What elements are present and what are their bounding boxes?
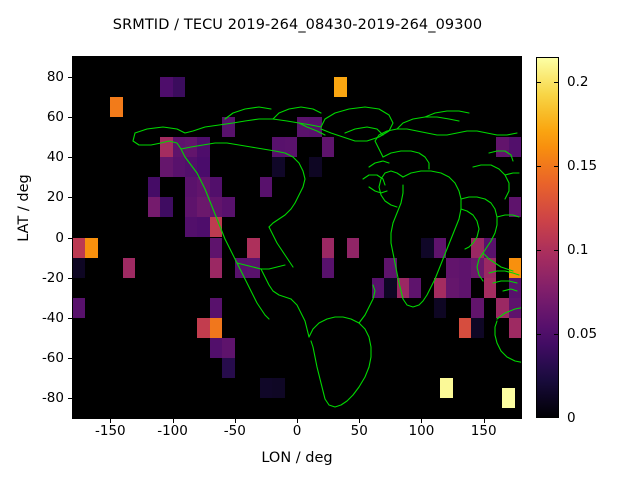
colorbar-tick-mark (554, 166, 559, 167)
y-tick-label: -40 (0, 310, 64, 326)
y-tick-mark (68, 238, 73, 239)
y-tick-label: 0 (0, 230, 64, 246)
x-tick-label: 50 (329, 423, 389, 439)
x-axis-label: LON / deg (73, 450, 521, 466)
y-tick-mark (68, 117, 73, 118)
x-tick-mark (421, 418, 422, 423)
colorbar-tick-mark (536, 82, 541, 83)
colorbar-tick-label: 0.2 (567, 74, 615, 90)
y-tick-label: 80 (0, 69, 64, 85)
y-tick-mark (68, 157, 73, 158)
y-tick-label: -20 (0, 270, 64, 286)
x-tick-mark (484, 418, 485, 423)
x-tick-mark (235, 418, 236, 423)
x-tick-label: -150 (80, 423, 140, 439)
colorbar-tick-mark (554, 250, 559, 251)
x-tick-label: 0 (267, 423, 327, 439)
map-plot-area (73, 57, 521, 418)
y-tick-mark (68, 318, 73, 319)
x-tick-label: -50 (205, 423, 265, 439)
x-tick-mark (110, 418, 111, 423)
y-tick-label: 40 (0, 149, 64, 165)
x-tick-mark (173, 418, 174, 423)
x-tick-label: 100 (391, 423, 451, 439)
colorbar-gradient (537, 58, 558, 417)
chart-title: SRMTID / TECU 2019-264_08430-2019-264_09… (0, 17, 595, 33)
colorbar-tick-mark (536, 334, 541, 335)
y-tick-mark (68, 358, 73, 359)
colorbar-tick-label: 0 (567, 410, 615, 426)
x-tick-mark (359, 418, 360, 423)
x-tick-label: -100 (143, 423, 203, 439)
y-tick-mark (68, 197, 73, 198)
colorbar-tick-mark (554, 334, 559, 335)
colorbar-tick-label: 0.05 (567, 326, 615, 342)
colorbar-tick-label: 0.15 (567, 158, 615, 174)
y-tick-label: -60 (0, 350, 64, 366)
colorbar-tick-mark (536, 166, 541, 167)
y-tick-label: 60 (0, 109, 64, 125)
x-tick-mark (297, 418, 298, 423)
y-tick-mark (68, 278, 73, 279)
y-tick-label: -80 (0, 390, 64, 406)
y-tick-label: 20 (0, 189, 64, 205)
figure-canvas: SRMTID / TECU 2019-264_08430-2019-264_09… (0, 0, 640, 480)
x-tick-label: 150 (454, 423, 514, 439)
colorbar (536, 57, 559, 418)
y-tick-mark (68, 398, 73, 399)
colorbar-tick-mark (536, 250, 541, 251)
y-axis-label: LAT / deg (16, 148, 32, 268)
y-tick-mark (68, 77, 73, 78)
colorbar-tick-mark (554, 82, 559, 83)
colorbar-tick-label: 0.1 (567, 242, 615, 258)
coastline-overlay (73, 57, 521, 418)
